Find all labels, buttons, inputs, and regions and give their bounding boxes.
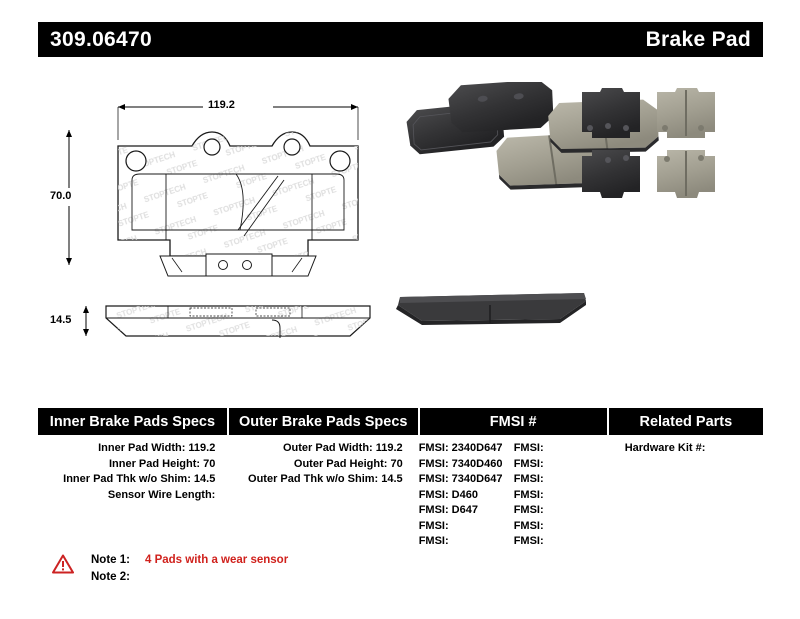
fmsi-row: FMSI: 7340D460: [419, 457, 514, 473]
fmsi-row: FMSI:: [419, 519, 514, 535]
mounting-hole: [204, 139, 220, 155]
brake-pad-drawing-svg: STOPTECH STOPTECH: [40, 80, 400, 370]
header-inner-specs: Inner Brake Pads Specs: [38, 408, 227, 435]
inner-specs-cell: Inner Pad Width: 119.2 Inner Pad Height:…: [38, 441, 223, 550]
spec-row: Outer Pad Height: 70: [225, 457, 402, 473]
fmsi-column-1: FMSI: 2340D647 FMSI: 7340D460 FMSI: 7340…: [419, 441, 514, 550]
note-row: Note 2:: [91, 569, 288, 586]
width-dimension-label: 119.2: [208, 99, 235, 111]
spec-sheet-page: 309.06470 Brake Pad STOPTECH STOPTECH: [0, 0, 800, 619]
fmsi-row: FMSI:: [514, 472, 609, 488]
spec-row: Inner Pad Width: 119.2: [38, 441, 215, 457]
part-number: 309.06470: [50, 28, 152, 52]
fmsi-column-2: FMSI: FMSI: FMSI: FMSI: FMSI: FMSI: FMSI…: [514, 441, 609, 550]
product-photo-group-svg: [395, 82, 750, 212]
spec-row: Sensor Wire Length:: [38, 488, 215, 504]
header-outer-specs: Outer Brake Pads Specs: [229, 408, 418, 435]
fmsi-row: FMSI:: [514, 519, 609, 535]
spec-row: Inner Pad Thk w/o Shim: 14.5: [38, 472, 215, 488]
table-header-row: Inner Brake Pads Specs Outer Brake Pads …: [38, 408, 763, 435]
pad-side-view: [106, 306, 370, 338]
mounting-hole: [330, 151, 350, 171]
fmsi-row: FMSI:: [514, 503, 609, 519]
fmsi-row: FMSI:: [514, 534, 609, 550]
product-photo-side: [392, 281, 592, 336]
fmsi-row: FMSI: 2340D647: [419, 441, 514, 457]
fmsi-row: FMSI:: [419, 534, 514, 550]
fmsi-row: FMSI: D460: [419, 488, 514, 504]
fmsi-row: FMSI:: [514, 441, 609, 457]
notes-section: Note 1: 4 Pads with a wear sensor Note 2…: [52, 552, 288, 586]
height-dimension-label: 70.0: [50, 190, 71, 202]
note-row: Note 1: 4 Pads with a wear sensor: [91, 552, 288, 569]
fmsi-cell: FMSI: 2340D647 FMSI: 7340D460 FMSI: 7340…: [413, 441, 609, 550]
width-dimension: [118, 98, 358, 140]
product-photos: [395, 82, 750, 212]
related-parts-cell: Hardware Kit #:: [611, 441, 763, 550]
note-label: Note 2:: [91, 569, 139, 586]
header-fmsi: FMSI #: [420, 408, 607, 435]
fmsi-row: FMSI: D647: [419, 503, 514, 519]
note-label: Note 1:: [91, 552, 139, 569]
fmsi-row: FMSI: 7340D647: [419, 472, 514, 488]
outer-specs-cell: Outer Pad Width: 119.2 Outer Pad Height:…: [225, 441, 410, 550]
fmsi-row: FMSI:: [514, 488, 609, 504]
pad-bottom-tab: [160, 254, 316, 276]
product-photo-side-svg: [392, 281, 592, 336]
fmsi-row: FMSI:: [514, 457, 609, 473]
notes-text-block: Note 1: 4 Pads with a wear sensor Note 2…: [91, 552, 288, 586]
thickness-dimension-label: 14.5: [50, 314, 71, 326]
specs-table: Inner Brake Pads Specs Outer Brake Pads …: [38, 408, 763, 550]
spec-row: Inner Pad Height: 70: [38, 457, 215, 473]
mounting-hole: [126, 151, 146, 171]
table-body: Inner Pad Width: 119.2 Inner Pad Height:…: [38, 441, 763, 550]
pad-front-view: [118, 132, 358, 268]
spec-row: Outer Pad Width: 119.2: [225, 441, 402, 457]
header-related-parts: Related Parts: [609, 408, 763, 435]
header-bar: 309.06470 Brake Pad: [38, 22, 763, 57]
technical-drawing: STOPTECH STOPTECH: [40, 80, 400, 370]
spec-row: Outer Pad Thk w/o Shim: 14.5: [225, 472, 402, 488]
note-value: 4 Pads with a wear sensor: [145, 552, 288, 569]
related-part-row: Hardware Kit #:: [625, 441, 763, 457]
warning-icon: [52, 554, 74, 574]
page-title: Brake Pad: [646, 28, 751, 52]
mounting-hole: [284, 139, 300, 155]
